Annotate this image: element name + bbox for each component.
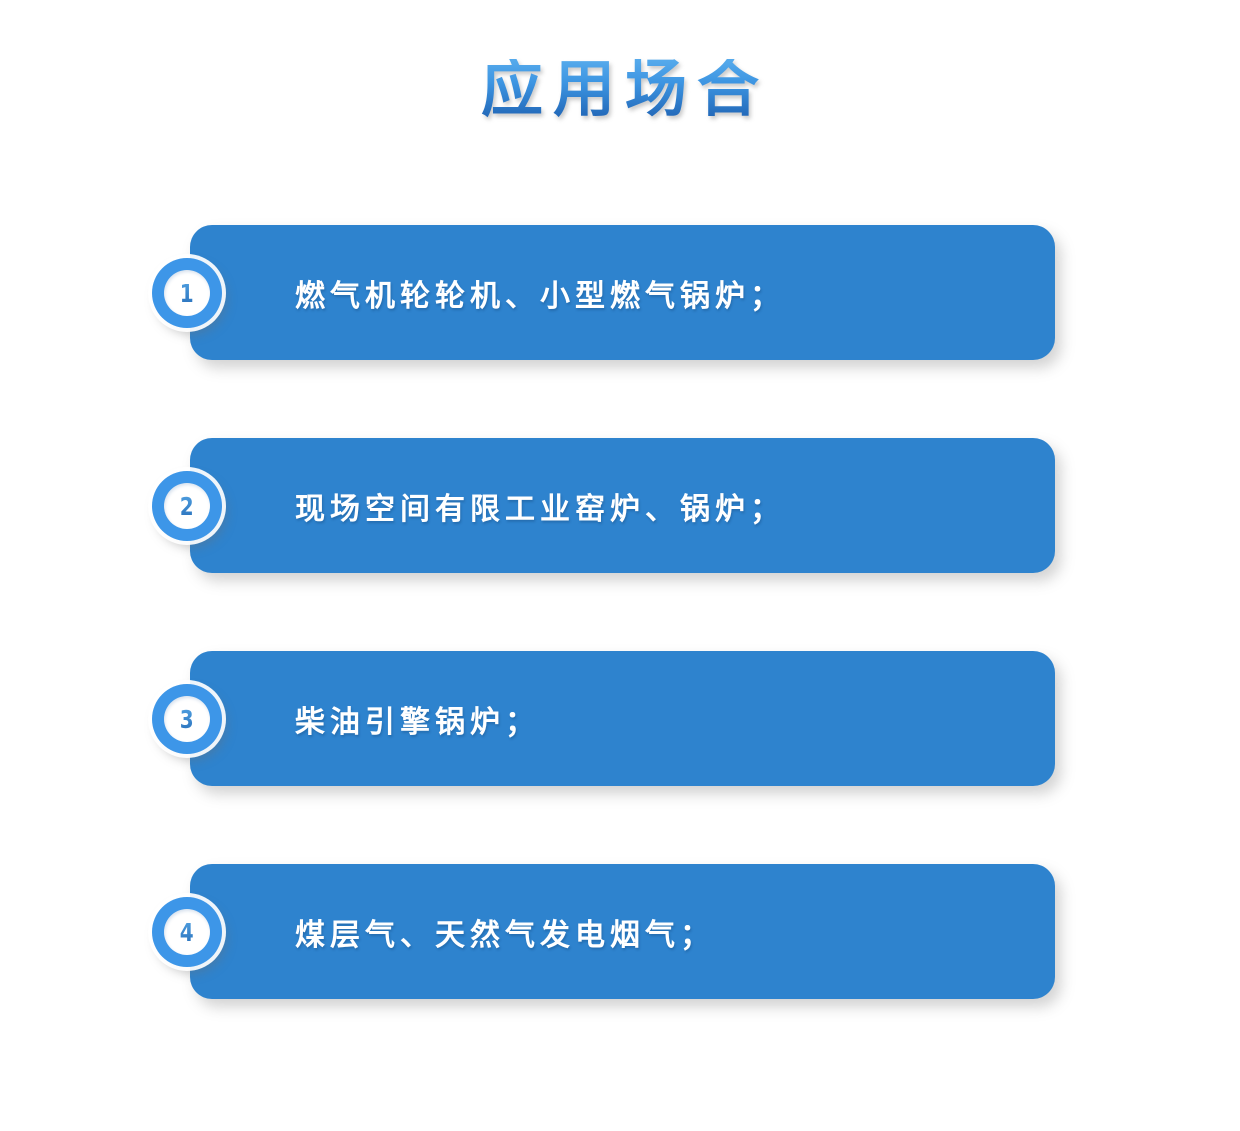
number-badge: 4 (152, 897, 222, 967)
list-item[interactable]: 燃气机轮轮机、小型燃气锅炉； 1 (150, 218, 1060, 368)
badge-number: 3 (180, 707, 194, 732)
card-label: 燃气机轮轮机、小型燃气锅炉； (295, 225, 1031, 360)
badge-inner-disc: 1 (164, 270, 210, 316)
badge-number: 1 (180, 281, 194, 306)
badge-inner-disc: 2 (164, 483, 210, 529)
badge-number: 4 (180, 920, 194, 945)
card-body[interactable]: 现场空间有限工业窑炉、锅炉； (190, 438, 1055, 573)
card-body[interactable]: 煤层气、天然气发电烟气； (190, 864, 1055, 999)
card-label: 现场空间有限工业窑炉、锅炉； (295, 438, 1031, 573)
number-badge: 1 (152, 258, 222, 328)
number-badge: 3 (152, 684, 222, 754)
card-body[interactable]: 燃气机轮轮机、小型燃气锅炉； (190, 225, 1055, 360)
badge-inner-disc: 4 (164, 909, 210, 955)
badge-inner-disc: 3 (164, 696, 210, 742)
card-label: 煤层气、天然气发电烟气； (295, 864, 1031, 999)
card-body[interactable]: 柴油引擎锅炉； (190, 651, 1055, 786)
application-scenario-list: 燃气机轮轮机、小型燃气锅炉； 1 现场空间有限工业窑炉、锅炉； 2 柴油引擎锅炉… (0, 0, 1240, 1131)
badge-number: 2 (180, 494, 194, 519)
list-item[interactable]: 柴油引擎锅炉； 3 (150, 644, 1060, 794)
list-item[interactable]: 现场空间有限工业窑炉、锅炉； 2 (150, 431, 1060, 581)
number-badge: 2 (152, 471, 222, 541)
list-item[interactable]: 煤层气、天然气发电烟气； 4 (150, 857, 1060, 1007)
card-label: 柴油引擎锅炉； (295, 651, 1031, 786)
